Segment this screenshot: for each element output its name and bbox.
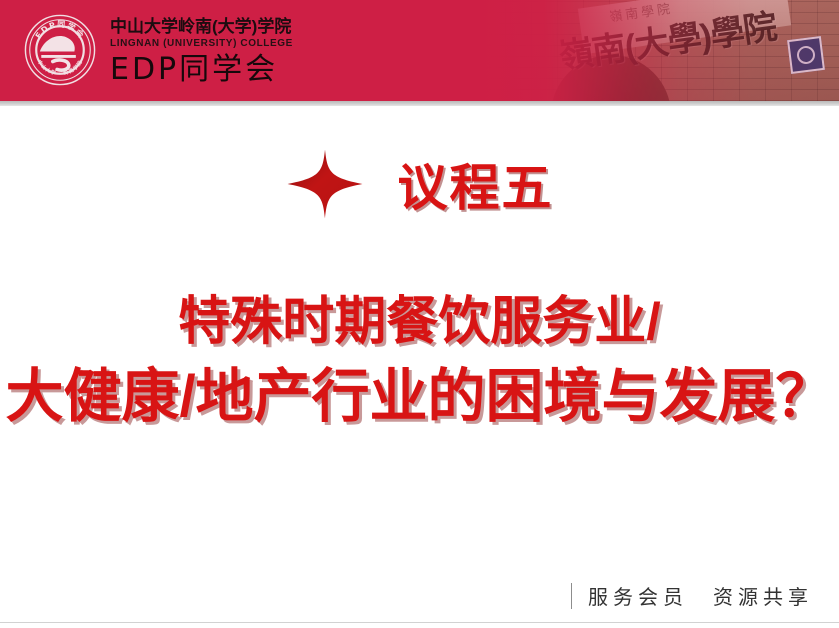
title-line-2: 大健康/地产行业的困境与发展？ (0, 358, 839, 436)
footer-divider-bar (571, 583, 572, 609)
brand-lockup: EDP同学会 中山大学 · 岭南学院 中山大学岭南(大学)学院 LINGNAN … (24, 14, 293, 86)
header-divider-rule (0, 101, 839, 106)
title-line-1: 特殊时期餐饮服务业/ (0, 288, 839, 358)
agenda-heading: 议程五 (0, 148, 839, 220)
slide: 嶺南學院 嶺南(大學)學院 EDP同学会 (0, 0, 839, 628)
school-name-en: LINGNAN (UNIVERSITY) COLLEGE (110, 39, 293, 49)
edp-alumni-seal-icon: EDP同学会 中山大学 · 岭南学院 (24, 14, 96, 86)
footer-rule (0, 622, 839, 623)
agenda-label: 议程五 (398, 148, 554, 220)
header-banner: 嶺南學院 嶺南(大學)學院 EDP同学会 (0, 0, 839, 101)
campus-archway-photo: 嶺南學院 嶺南(大學)學院 (479, 0, 839, 101)
school-name-cn: 中山大学岭南(大学)学院 (110, 18, 293, 35)
four-point-star-icon (286, 148, 364, 220)
red-gradient-overlay (479, 0, 839, 101)
page-title: 特殊时期餐饮服务业/ 大健康/地产行业的困境与发展？ (0, 288, 839, 435)
footer-slogan-text: 服务会员 资源共享 (588, 581, 813, 610)
brand-text-block: 中山大学岭南(大学)学院 LINGNAN (UNIVERSITY) COLLEG… (110, 16, 293, 85)
org-name: EDP同学会 (110, 55, 293, 85)
footer-slogan: 服务会员 资源共享 (571, 581, 813, 610)
